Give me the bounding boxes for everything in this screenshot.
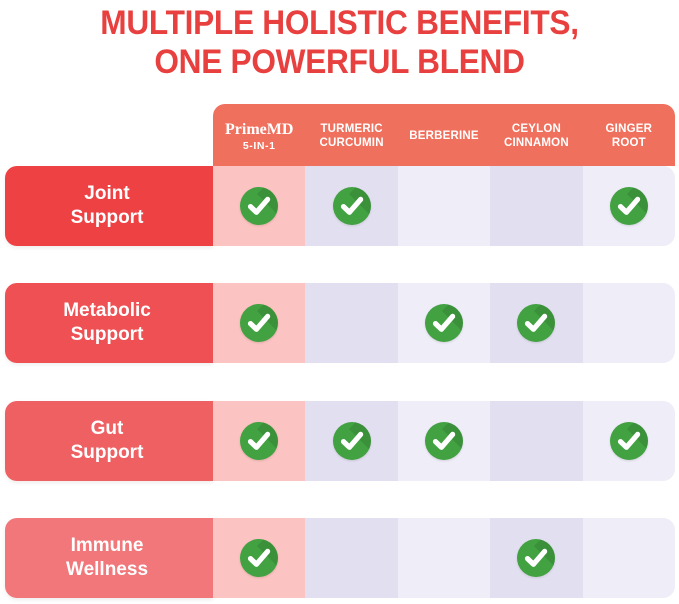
check-mark-icon	[240, 422, 278, 460]
cell-joint-support-ginger	[583, 166, 675, 246]
row-cells	[213, 401, 675, 481]
table-row: Joint Support	[5, 166, 675, 246]
cell-metabolic-support-turmeric	[305, 283, 397, 363]
check-mark-icon	[425, 304, 463, 342]
column-header-ceylon: CEYLON CINNAMON	[490, 119, 582, 150]
cell-joint-support-ceylon	[490, 166, 582, 246]
row-label-line-2: Support	[63, 323, 151, 347]
column-header-berberine: BERBERINE	[398, 126, 490, 144]
check-mark-icon	[517, 304, 555, 342]
page-title-line-2: ONE POWERFUL BLEND	[24, 43, 655, 82]
check-mark-icon	[333, 187, 371, 225]
row-cells	[213, 518, 675, 598]
cell-joint-support-berberine	[398, 166, 490, 246]
cell-gut-support-berberine	[398, 401, 490, 481]
cell-immune-wellness-turmeric	[305, 518, 397, 598]
row-label-line-1: Immune	[66, 534, 148, 558]
row-cells	[213, 283, 675, 363]
benefits-comparison-table: PrimeMD 5-IN-1 TURMERIC CURCUMIN BERBERI…	[0, 104, 679, 604]
cell-gut-support-turmeric	[305, 401, 397, 481]
column-header-turmeric: TURMERIC CURCUMIN	[305, 119, 397, 150]
check-mark-icon	[240, 539, 278, 577]
cell-immune-wellness-berberine	[398, 518, 490, 598]
column-header-turmeric-line-1: TURMERIC	[305, 123, 397, 137]
column-header-ginger-line-2: ROOT	[583, 137, 675, 151]
row-label-line-1: Gut	[71, 417, 144, 441]
table-row: Immune Wellness	[5, 518, 675, 598]
row-label-gut-support: Gut Support	[5, 401, 213, 481]
table-row: Gut Support	[5, 401, 675, 481]
cell-immune-wellness-ginger	[583, 518, 675, 598]
page-title-line-1: MULTIPLE HOLISTIC BENEFITS,	[24, 4, 655, 43]
check-mark-icon	[610, 187, 648, 225]
page-title: MULTIPLE HOLISTIC BENEFITS, ONE POWERFUL…	[24, 4, 655, 83]
column-header-ceylon-line-1: CEYLON	[490, 123, 582, 137]
row-label-line-1: Joint	[71, 182, 144, 206]
cell-metabolic-support-berberine	[398, 283, 490, 363]
column-header-ginger-line-1: GINGER	[583, 123, 675, 137]
column-header-ginger: GINGER ROOT	[583, 119, 675, 150]
cell-metabolic-support-primemd	[213, 283, 305, 363]
cell-metabolic-support-ceylon	[490, 283, 582, 363]
cell-joint-support-turmeric	[305, 166, 397, 246]
cell-gut-support-ginger	[583, 401, 675, 481]
cell-metabolic-support-ginger	[583, 283, 675, 363]
check-mark-icon	[333, 422, 371, 460]
check-mark-icon	[425, 422, 463, 460]
check-mark-icon	[610, 422, 648, 460]
check-mark-icon	[240, 187, 278, 225]
row-label-joint-support: Joint Support	[5, 166, 213, 246]
row-label-line-2: Support	[71, 441, 144, 465]
row-label-immune-wellness: Immune Wellness	[5, 518, 213, 598]
row-label-line-2: Support	[71, 206, 144, 230]
column-header-berberine-line-1: BERBERINE	[398, 130, 490, 144]
cell-immune-wellness-ceylon	[490, 518, 582, 598]
row-label-line-2: Wellness	[66, 558, 148, 582]
check-mark-icon	[240, 304, 278, 342]
column-header-bar: PrimeMD 5-IN-1 TURMERIC CURCUMIN BERBERI…	[213, 104, 675, 166]
cell-joint-support-primemd	[213, 166, 305, 246]
table-row: Metabolic Support	[5, 283, 675, 363]
check-mark-icon	[517, 539, 555, 577]
cell-gut-support-ceylon	[490, 401, 582, 481]
cell-immune-wellness-primemd	[213, 518, 305, 598]
row-label-metabolic-support: Metabolic Support	[5, 283, 213, 363]
primemd-subtitle: 5-IN-1	[213, 140, 305, 152]
column-header-turmeric-line-2: CURCUMIN	[305, 137, 397, 151]
cell-gut-support-primemd	[213, 401, 305, 481]
column-header-primemd: PrimeMD 5-IN-1	[213, 118, 305, 152]
primemd-wordmark: PrimeMD	[213, 122, 305, 139]
column-header-ceylon-line-2: CINNAMON	[490, 137, 582, 151]
row-label-line-1: Metabolic	[63, 299, 151, 323]
row-cells	[213, 166, 675, 246]
